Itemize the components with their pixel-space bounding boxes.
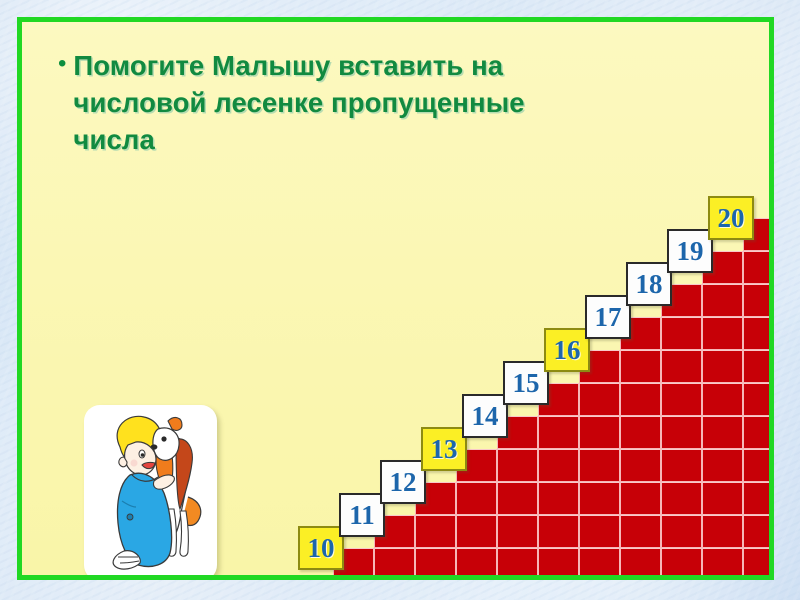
bullet-icon: • <box>58 47 66 81</box>
stair-cell <box>620 548 661 580</box>
stair-cell <box>620 416 661 449</box>
stair-column <box>620 317 661 580</box>
stair-cell <box>620 383 661 416</box>
stair-cell <box>743 383 774 416</box>
stair-cell <box>620 515 661 548</box>
step-number-label-16[interactable]: 16 <box>544 328 590 372</box>
step-number-label-15[interactable]: 15 <box>503 361 549 405</box>
stair-column <box>661 284 702 580</box>
step-number-label-17[interactable]: 17 <box>585 295 631 339</box>
stair-cell <box>497 482 538 515</box>
stair-cell <box>620 449 661 482</box>
stair-cell <box>579 548 620 580</box>
stair-cell <box>415 548 456 580</box>
stair-cell <box>702 416 743 449</box>
stair-cell <box>538 548 579 580</box>
stair-cell <box>743 482 774 515</box>
stair-cell <box>661 515 702 548</box>
number-staircase: 1011121314151617181920 <box>333 190 774 580</box>
stair-cell <box>661 482 702 515</box>
stair-column <box>743 218 774 580</box>
stair-column <box>702 251 743 580</box>
stair-cell <box>743 317 774 350</box>
stair-cell <box>497 548 538 580</box>
step-number-label-19[interactable]: 19 <box>667 229 713 273</box>
step-number-label-18[interactable]: 18 <box>626 262 672 306</box>
stair-cell <box>538 416 579 449</box>
stair-cell <box>743 350 774 383</box>
stair-column <box>579 350 620 580</box>
stair-cell <box>702 317 743 350</box>
stair-cell <box>702 449 743 482</box>
stair-cell <box>743 284 774 317</box>
stair-cell <box>456 482 497 515</box>
stair-cell <box>702 350 743 383</box>
stair-cell <box>743 515 774 548</box>
stair-cell <box>743 548 774 580</box>
stair-cell <box>456 515 497 548</box>
stair-cell <box>702 548 743 580</box>
step-number-label-10[interactable]: 10 <box>298 526 344 570</box>
stair-cell <box>743 416 774 449</box>
stair-cell <box>456 548 497 580</box>
title-text: Помогите Малышу вставить на числовой лес… <box>73 47 524 158</box>
title-line: • Помогите Малышу вставить на числовой л… <box>58 47 698 158</box>
stair-cell <box>661 383 702 416</box>
stair-cell <box>702 482 743 515</box>
stair-cell <box>743 449 774 482</box>
page-title: • Помогите Малышу вставить на числовой л… <box>58 47 698 158</box>
stair-cell <box>661 350 702 383</box>
stair-cell <box>661 317 702 350</box>
stair-cell <box>497 449 538 482</box>
step-number-label-11[interactable]: 11 <box>339 493 385 537</box>
step-number-label-13[interactable]: 13 <box>421 427 467 471</box>
stair-cell <box>579 383 620 416</box>
stair-cell <box>538 482 579 515</box>
stair-column <box>538 383 579 580</box>
stair-cell <box>579 449 620 482</box>
stair-cell <box>661 416 702 449</box>
boy-with-dog-icon <box>84 405 217 580</box>
content-frame: • Помогите Малышу вставить на числовой л… <box>17 17 774 580</box>
stair-cell <box>661 449 702 482</box>
stair-cell <box>497 515 538 548</box>
stair-cell <box>415 515 456 548</box>
stair-cell <box>702 383 743 416</box>
stair-cell <box>620 350 661 383</box>
stair-cell <box>661 548 702 580</box>
stair-column <box>497 416 538 580</box>
step-number-label-14[interactable]: 14 <box>462 394 508 438</box>
stair-cell <box>620 482 661 515</box>
stair-cell <box>579 416 620 449</box>
step-number-label-20[interactable]: 20 <box>708 196 754 240</box>
stair-cell <box>702 284 743 317</box>
stair-cell <box>579 482 620 515</box>
character-illustration-card <box>84 405 217 580</box>
stair-cell <box>702 515 743 548</box>
stair-cell <box>538 515 579 548</box>
stair-cell <box>374 548 415 580</box>
stair-cell <box>579 515 620 548</box>
step-number-label-12[interactable]: 12 <box>380 460 426 504</box>
stair-cell <box>743 251 774 284</box>
stair-cell <box>538 449 579 482</box>
